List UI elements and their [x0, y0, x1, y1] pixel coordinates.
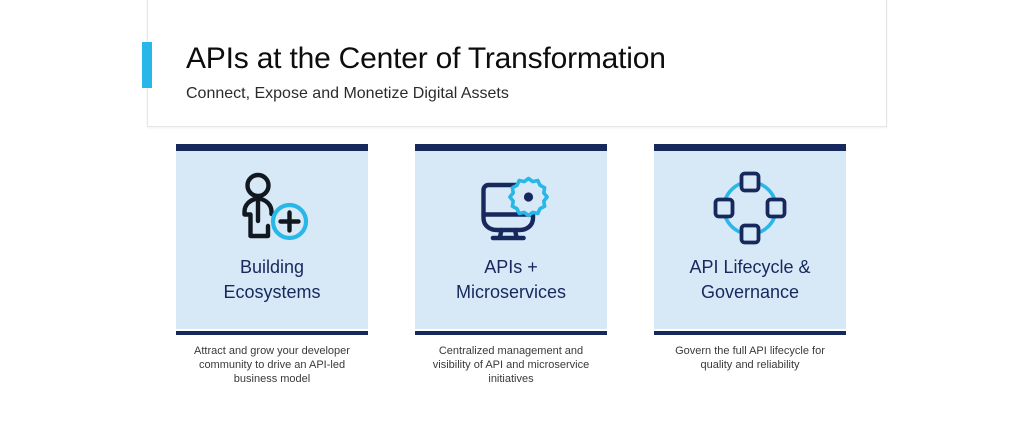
card-title-line-1: Building: [240, 257, 304, 277]
card-bottom-accent-bar: [654, 331, 846, 335]
card-title: APIs + Microservices: [448, 255, 574, 305]
person-plus-icon: [232, 169, 312, 247]
page-subtitle: Connect, Expose and Monetize Digital Ass…: [186, 84, 886, 104]
accent-bar: [142, 42, 152, 88]
cards-row: Building Ecosystems Attract and grow you…: [176, 144, 846, 386]
card-title-line-2: Microservices: [456, 282, 566, 302]
card-title-line-2: Governance: [701, 282, 799, 302]
card-title: API Lifecycle & Governance: [681, 255, 818, 305]
card-body: Building Ecosystems: [176, 151, 368, 329]
card-bottom-accent-bar: [415, 331, 607, 335]
card-caption: Attract and grow your developer communit…: [176, 344, 368, 386]
card-bottom-accent-bar: [176, 331, 368, 335]
card-top-accent-bar: [176, 144, 368, 151]
header-text-block: APIs at the Center of Transformation Con…: [186, 40, 886, 104]
card-title-line-2: Ecosystems: [223, 282, 320, 302]
card-title: Building Ecosystems: [215, 255, 328, 305]
page-title: APIs at the Center of Transformation: [186, 40, 886, 78]
lifecycle-nodes-icon: [711, 169, 789, 247]
card-title-line-1: API Lifecycle &: [689, 257, 810, 277]
card-building-ecosystems[interactable]: Building Ecosystems Attract and grow you…: [176, 144, 368, 386]
card-top-accent-bar: [654, 144, 846, 151]
card-api-lifecycle-governance[interactable]: API Lifecycle & Governance Govern the fu…: [654, 144, 846, 386]
card-top-accent-bar: [415, 144, 607, 151]
monitor-gear-icon: [471, 169, 551, 247]
card-title-line-1: APIs +: [484, 257, 538, 277]
card-caption: Centralized management and visibility of…: [415, 344, 607, 386]
card-caption: Govern the full API lifecycle for qualit…: [654, 344, 846, 372]
card-body: API Lifecycle & Governance: [654, 151, 846, 329]
card-apis-microservices[interactable]: APIs + Microservices Centralized managem…: [415, 144, 607, 386]
slide-canvas: APIs at the Center of Transformation Con…: [0, 0, 1024, 439]
card-body: APIs + Microservices: [415, 151, 607, 329]
